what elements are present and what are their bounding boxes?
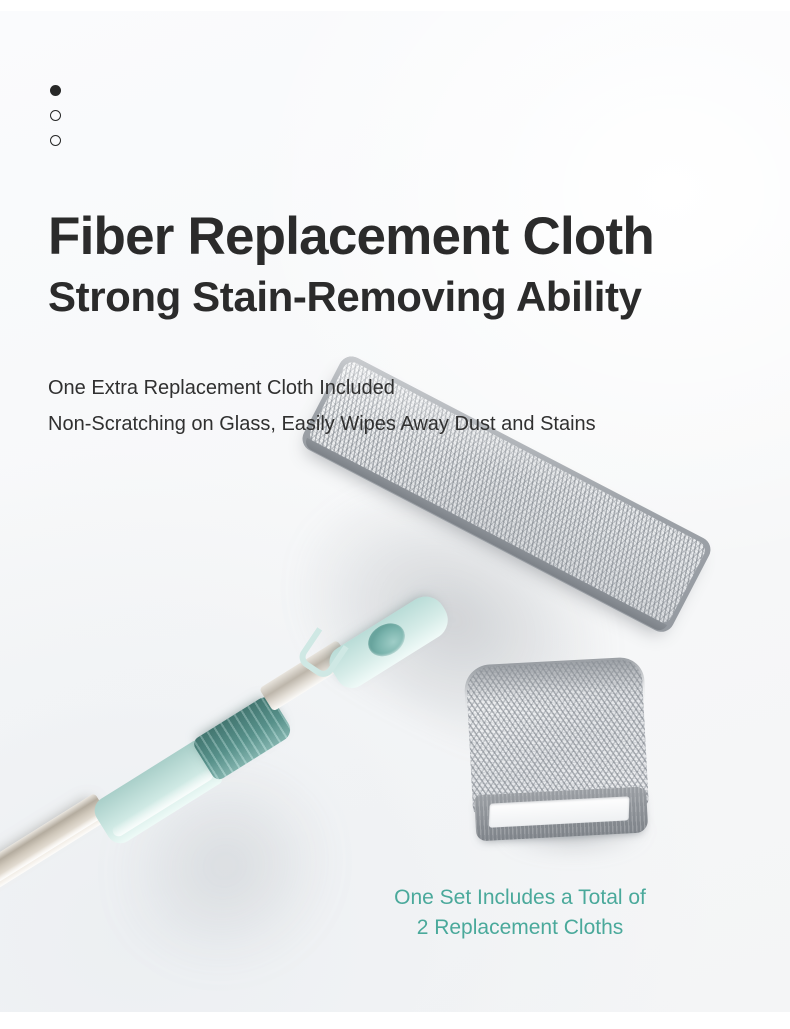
pagination-dot-1[interactable] (50, 85, 61, 96)
headline-secondary: Strong Stain-Removing Ability (48, 273, 768, 320)
caption-line-2: 2 Replacement Cloths (330, 913, 710, 943)
pagination-dot-3[interactable] (50, 135, 61, 146)
headline-block: Fiber Replacement Cloth Strong Stain-Rem… (48, 209, 768, 320)
subtext-block: One Extra Replacement Cloth Included Non… (48, 371, 778, 442)
caption-line-1: One Set Includes a Total of (330, 883, 710, 913)
subtext-line-2: Non-Scratching on Glass, Easily Wipes Aw… (48, 407, 778, 443)
spare-cloth-hem (474, 786, 648, 841)
spare-cloth (465, 659, 650, 846)
pagination-dots[interactable] (50, 85, 66, 160)
set-contents-caption: One Set Includes a Total of 2 Replacemen… (330, 883, 710, 944)
product-photo-panel: Fiber Replacement Cloth Strong Stain-Rem… (0, 11, 790, 1012)
spare-cloth-top-edge (463, 656, 645, 709)
pagination-dot-2[interactable] (50, 110, 61, 121)
headline-primary: Fiber Replacement Cloth (48, 209, 768, 265)
subtext-line-1: One Extra Replacement Cloth Included (48, 371, 778, 407)
product-illustration (0, 11, 790, 1012)
product-banner: Fiber Replacement Cloth Strong Stain-Rem… (0, 0, 790, 1029)
